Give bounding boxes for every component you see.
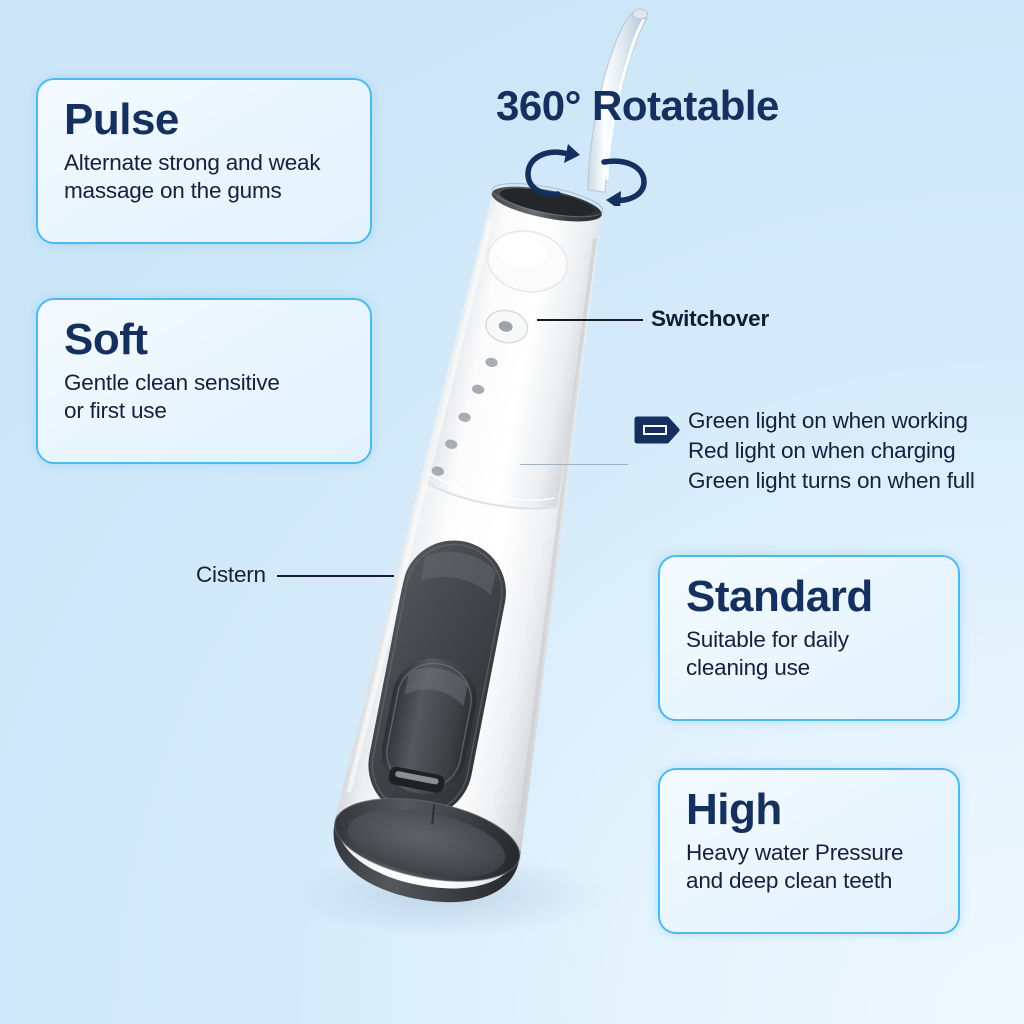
card-title: Pulse: [64, 98, 350, 143]
battery-callout-line: Red light on when charging: [688, 436, 975, 466]
card-title: Soft: [64, 318, 350, 363]
card-description: Heavy water Pressure and deep clean teet…: [686, 839, 938, 896]
infographic-canvas: 360° Rotatable Pulse Alternate strong an…: [0, 0, 1024, 1024]
battery-leader-line: [520, 464, 628, 465]
feature-card-high[interactable]: High Heavy water Pressure and deep clean…: [658, 768, 960, 934]
card-description-line: Gentle clean sensitive: [64, 369, 350, 397]
rotatable-headline: 360° Rotatable: [496, 82, 836, 130]
card-description-line: cleaning use: [686, 654, 938, 682]
card-description-line: and deep clean teeth: [686, 867, 938, 895]
card-title: Standard: [686, 575, 938, 620]
card-description: Suitable for daily cleaning use: [686, 626, 938, 683]
feature-card-standard[interactable]: Standard Suitable for daily cleaning use: [658, 555, 960, 721]
feature-card-soft[interactable]: Soft Gentle clean sensitive or first use: [36, 298, 372, 464]
rotation-arrows-icon: [516, 136, 656, 206]
cistern-leader-line: [277, 575, 394, 577]
card-description-line: or first use: [64, 397, 350, 425]
card-description: Gentle clean sensitive or first use: [64, 369, 350, 426]
card-title: High: [686, 788, 938, 833]
card-description-line: massage on the gums: [64, 177, 350, 205]
card-description: Alternate strong and weak massage on the…: [64, 149, 350, 206]
card-description-line: Alternate strong and weak: [64, 149, 350, 177]
switchover-label: Switchover: [651, 306, 769, 332]
card-description-line: Heavy water Pressure: [686, 839, 938, 867]
battery-callout-text: Green light on when working Red light on…: [688, 406, 975, 496]
battery-callout-line: Green light turns on when full: [688, 466, 975, 496]
card-description-line: Suitable for daily: [686, 626, 938, 654]
battery-callout-line: Green light on when working: [688, 406, 975, 436]
feature-card-pulse[interactable]: Pulse Alternate strong and weak massage …: [36, 78, 372, 244]
battery-icon: [634, 416, 680, 444]
cistern-label: Cistern: [196, 562, 266, 588]
switchover-leader-line: [537, 319, 643, 321]
